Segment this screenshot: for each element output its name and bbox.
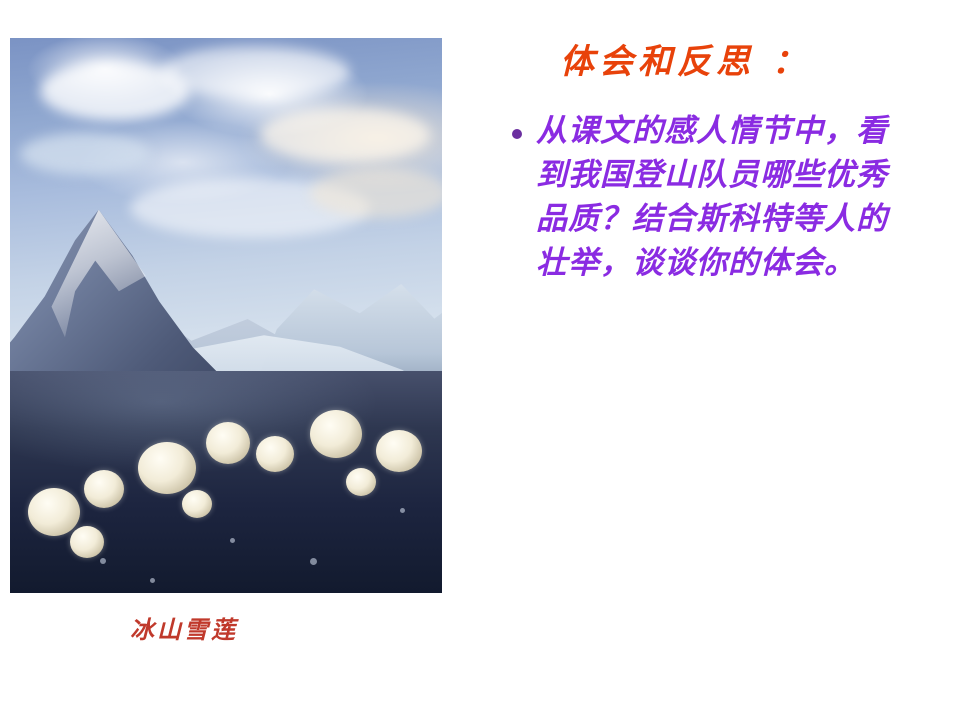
bullet-item: 从课文的感人情节中，看到我国登山队员哪些优秀品质？结合斯科特等人的壮举，谈谈你的… — [512, 109, 940, 285]
snow-lotus-flower — [310, 410, 362, 458]
snow-lotus-flower — [206, 422, 250, 464]
snow-lotus-flower — [256, 436, 294, 472]
snow-lotus-flower — [138, 442, 196, 494]
snow-speck — [230, 538, 235, 543]
cloud-shape — [260, 108, 430, 162]
snow-lotus-flower — [28, 488, 80, 536]
snow-speck — [100, 558, 106, 564]
snow-lotus-flower — [376, 430, 422, 472]
mountain-photo — [10, 38, 442, 593]
slide-canvas: 冰山雪莲 体会和反思 ： 从课文的感人情节中，看到我国登山队员哪些优秀品质？结合… — [0, 0, 960, 720]
dark-foreground — [10, 371, 442, 593]
slide-title: 体会和反思 ： — [560, 34, 940, 83]
snow-lotus-flower — [84, 470, 124, 508]
image-caption: 冰山雪莲 — [130, 610, 238, 645]
cloud-shape — [20, 133, 150, 175]
cloud-shape — [160, 46, 350, 98]
cloud-shape — [310, 168, 442, 218]
snow-speck — [150, 578, 155, 583]
text-column: 体会和反思 ： 从课文的感人情节中，看到我国登山队员哪些优秀品质？结合斯科特等人… — [470, 34, 940, 285]
bullet-dot-icon — [512, 129, 522, 139]
snow-speck — [310, 558, 317, 565]
snow-lotus-flower — [346, 468, 376, 496]
snow-lotus-flower — [182, 490, 212, 518]
snow-lotus-flower — [70, 526, 104, 558]
image-block — [10, 38, 442, 593]
snow-speck — [400, 508, 405, 513]
bullet-text: 从课文的感人情节中，看到我国登山队员哪些优秀品质？结合斯科特等人的壮举，谈谈你的… — [536, 109, 906, 285]
